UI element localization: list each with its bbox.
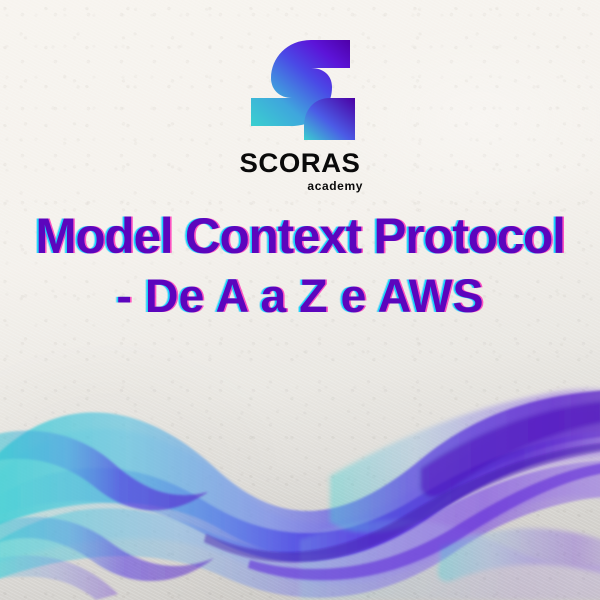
title-line-1: Model Context Protocol (3, 210, 597, 262)
title-line-2: - De A a Z e AWS (3, 272, 597, 321)
brand-logo: SCORAS academy (0, 34, 600, 192)
silk-ribbon-wave-graphic (0, 350, 600, 600)
brand-name: SCORAS (234, 150, 367, 177)
scoras-s-mark-icon (242, 34, 358, 146)
page-title: Model Context Protocol - De A a Z e AWS (0, 210, 600, 321)
poster-canvas: SCORAS academy Model Context Protocol - … (0, 0, 600, 600)
brand-subname: academy (235, 180, 365, 192)
brand-wordmark: SCORAS academy (235, 150, 365, 192)
